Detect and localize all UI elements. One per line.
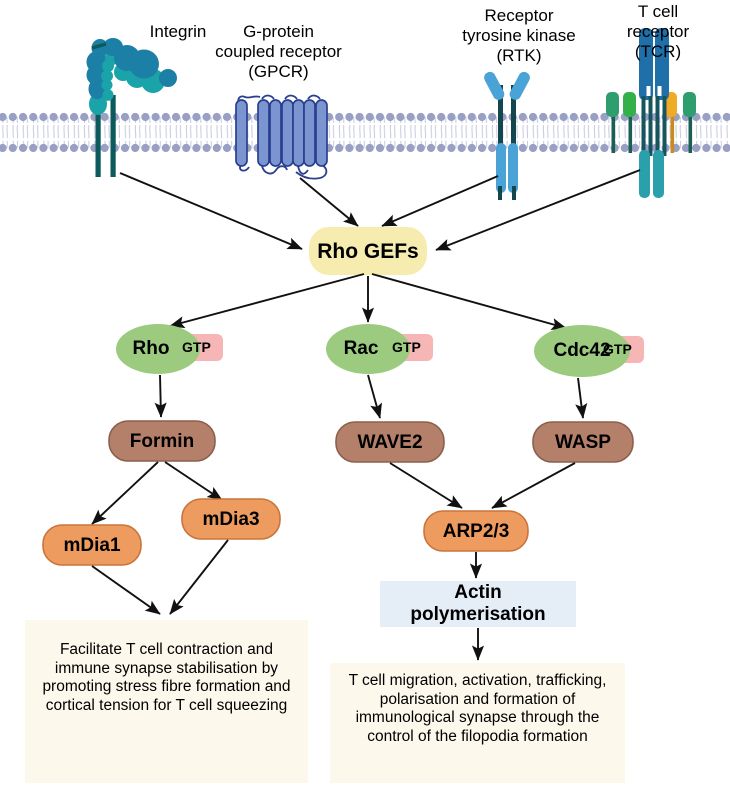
receptor-title-tcr: T cell receptor (TCR): [598, 2, 718, 62]
edge-wasp-arp23: [492, 463, 575, 508]
integrin-receptor-icon: [87, 38, 178, 177]
receptor-title-gpcr: G-protein coupled receptor (GPCR): [191, 22, 366, 82]
edge-integrin-rhogefs: [120, 173, 302, 249]
receptor-title-rtk: Receptor tyrosine kinase (RTK): [434, 6, 604, 66]
outcome-text-right: T cell migration, activation, traffickin…: [340, 672, 615, 746]
edge-tcr-rhogefs: [436, 170, 640, 250]
node-wasp[interactable]: [533, 422, 633, 462]
lipid-bilayer: [0, 113, 730, 152]
node-mdia1[interactable]: [43, 525, 141, 565]
pathway-diagram: Integrin G-protein coupled receptor (GPC…: [0, 0, 730, 789]
edge-gpcr-rhogefs: [300, 178, 358, 226]
edge-rtk-rhogefs: [382, 176, 498, 226]
edge-formin-mdia3: [165, 462, 222, 500]
outcome-text-left: Facilitate T cell contraction and immune…: [35, 641, 298, 715]
node-mdia3[interactable]: [182, 499, 280, 539]
edge-formin-mdia1: [92, 462, 158, 524]
edge-rhogefs-cdc42: [372, 274, 566, 328]
node-label-actin-polymerisation: Actin polymerisation: [380, 582, 576, 626]
edge-cdc42-wasp: [578, 378, 583, 418]
gtpase-to-effector-arrows: [160, 375, 583, 418]
gtp-badge-rac: GTP: [392, 339, 421, 355]
gtp-badge-rho: GTP: [182, 339, 211, 355]
edge-rhogefs-rho: [170, 274, 364, 326]
effector-to-arp-arrows: [390, 463, 575, 508]
node-formin[interactable]: [109, 421, 215, 461]
edge-wave2-arp23: [390, 463, 462, 508]
edge-mdia3-outcome: [170, 540, 228, 614]
node-wave2[interactable]: [336, 422, 444, 462]
node-arp23[interactable]: [424, 511, 528, 551]
edge-rho-formin: [160, 375, 161, 417]
gefs-to-gtpase-arrows: [170, 274, 566, 328]
edge-mdia1-outcome: [92, 566, 160, 614]
gtp-badge-cdc42: GTP: [603, 341, 632, 357]
edge-rac-wave2: [368, 375, 380, 418]
node-rho-gefs[interactable]: [309, 227, 427, 275]
